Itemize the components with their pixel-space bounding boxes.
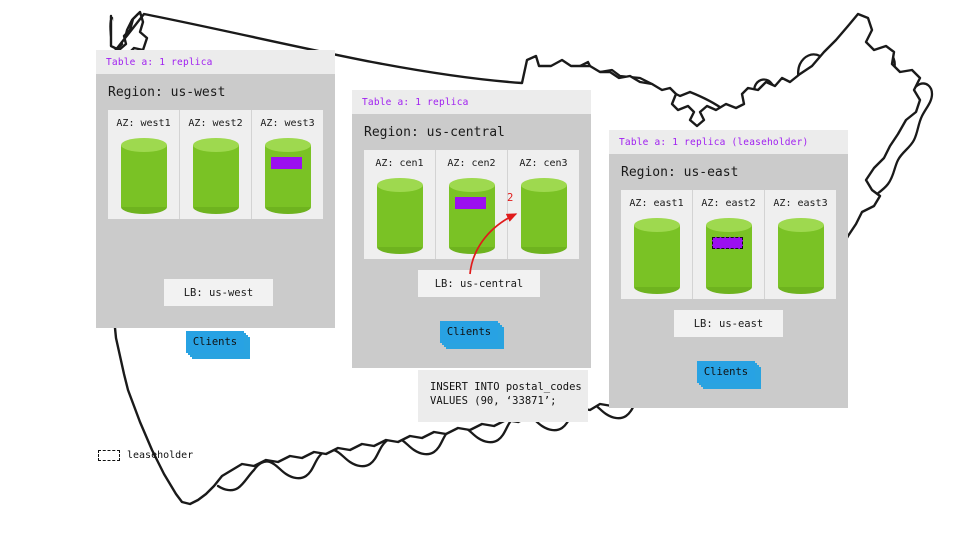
panel-header-us-central: Table a: 1 replica [352,90,591,114]
cylinder-cen1[interactable] [377,178,423,254]
cylinder-body [778,225,824,287]
cylinder-top [121,138,167,152]
az-label-cen1: AZ: cen1 [364,158,435,169]
panel-header-us-west: Table a: 1 replica [96,50,335,74]
az-label-east3: AZ: east3 [765,198,836,209]
az-cell-east3[interactable]: AZ: east3 [765,190,836,299]
sql-line-1: INSERT INTO postal_codes [430,380,588,394]
cylinder-body [377,185,423,247]
cylinder-east2[interactable] [706,218,752,294]
cylinder-top [521,178,567,192]
az-label-west1: AZ: west1 [108,118,179,129]
cylinder-top [706,218,752,232]
cylinder-top [449,178,495,192]
lb-label-us-west: LB: us-west [184,287,254,299]
clients-us-central[interactable]: Clients [440,321,504,349]
replica-range-cen2[interactable] [455,197,486,209]
cylinder-west1[interactable] [121,138,167,214]
az-cell-cen1[interactable]: AZ: cen1 [364,150,436,259]
clients-label-us-central: Clients [447,326,491,338]
clients-button-us-west[interactable]: Clients [186,331,244,353]
az-cell-west1[interactable]: AZ: west1 [108,110,180,219]
az-cell-west2[interactable]: AZ: west2 [180,110,252,219]
az-label-west3: AZ: west3 [252,118,323,129]
region-title-us-west: Region: us-west [96,74,335,110]
cylinder-cen2[interactable] [449,178,495,254]
cylinder-body [265,145,311,207]
cylinder-east3[interactable] [778,218,824,294]
cylinder-top [634,218,680,232]
az-cell-east1[interactable]: AZ: east1 [621,190,693,299]
table-replica-label-us-east: Table a: 1 replica (leaseholder) [619,137,838,148]
cylinder-west2[interactable] [193,138,239,214]
arrow-step-label-2: 2 [507,192,513,204]
replica-range-east2-leaseholder[interactable] [712,237,743,249]
cylinder-west3[interactable] [265,138,311,214]
region-panel-us-west: Table a: 1 replica Region: us-west AZ: w… [96,50,335,328]
sql-statement-box: INSERT INTO postal_codes VALUES (90, ‘33… [418,370,588,422]
region-panel-us-east: Table a: 1 replica (leaseholder) Region:… [609,130,848,408]
cylinder-body [121,145,167,207]
load-balancer-us-east[interactable]: LB: us-east [674,310,783,337]
table-replica-label-us-central: Table a: 1 replica [362,97,581,108]
load-balancer-us-west[interactable]: LB: us-west [164,279,273,306]
region-panel-us-central: Table a: 1 replica Region: us-central AZ… [352,90,591,368]
lb-label-us-central: LB: us-central [435,278,524,290]
region-title-us-central: Region: us-central [352,114,591,150]
cylinder-body [706,225,752,287]
az-strip-us-east: AZ: east1 AZ: east2 [621,190,836,299]
az-strip-us-west: AZ: west1 AZ: west2 [108,110,323,219]
cylinder-top [265,138,311,152]
cylinder-body [449,185,495,247]
region-title-us-east: Region: us-east [609,154,848,190]
clients-label-us-west: Clients [193,336,237,348]
cylinder-cen3[interactable] [521,178,567,254]
clients-us-east[interactable]: Clients [697,361,761,389]
clients-us-west[interactable]: Clients [186,331,250,359]
replica-range-west3[interactable] [271,157,302,169]
az-label-west2: AZ: west2 [180,118,251,129]
az-label-cen3: AZ: cen3 [508,158,579,169]
cylinder-east1[interactable] [634,218,680,294]
lb-label-us-east: LB: us-east [694,318,764,330]
legend-leaseholder: leaseholder [98,450,193,461]
cylinder-top [778,218,824,232]
cylinder-top [377,178,423,192]
cylinder-top [193,138,239,152]
clients-button-us-east[interactable]: Clients [697,361,755,383]
cylinder-body [634,225,680,287]
panel-header-us-east: Table a: 1 replica (leaseholder) [609,130,848,154]
az-cell-cen2[interactable]: AZ: cen2 [436,150,508,259]
az-cell-cen3[interactable]: AZ: cen3 [508,150,579,259]
cylinder-body [521,185,567,247]
az-label-east2: AZ: east2 [693,198,764,209]
table-replica-label-us-west: Table a: 1 replica [106,57,325,68]
az-cell-east2[interactable]: AZ: east2 [693,190,765,299]
az-strip-us-central: AZ: cen1 AZ: cen2 [364,150,579,259]
clients-label-us-east: Clients [704,366,748,378]
cylinder-body [193,145,239,207]
load-balancer-us-central[interactable]: LB: us-central [418,270,540,297]
legend-label-leaseholder: leaseholder [127,450,193,461]
clients-button-us-central[interactable]: Clients [440,321,498,343]
sql-line-2: VALUES (90, ‘33871’; [430,394,588,408]
az-label-east1: AZ: east1 [621,198,692,209]
az-label-cen2: AZ: cen2 [436,158,507,169]
az-cell-west3[interactable]: AZ: west3 [252,110,323,219]
dashed-rect-swatch-icon [98,450,120,461]
